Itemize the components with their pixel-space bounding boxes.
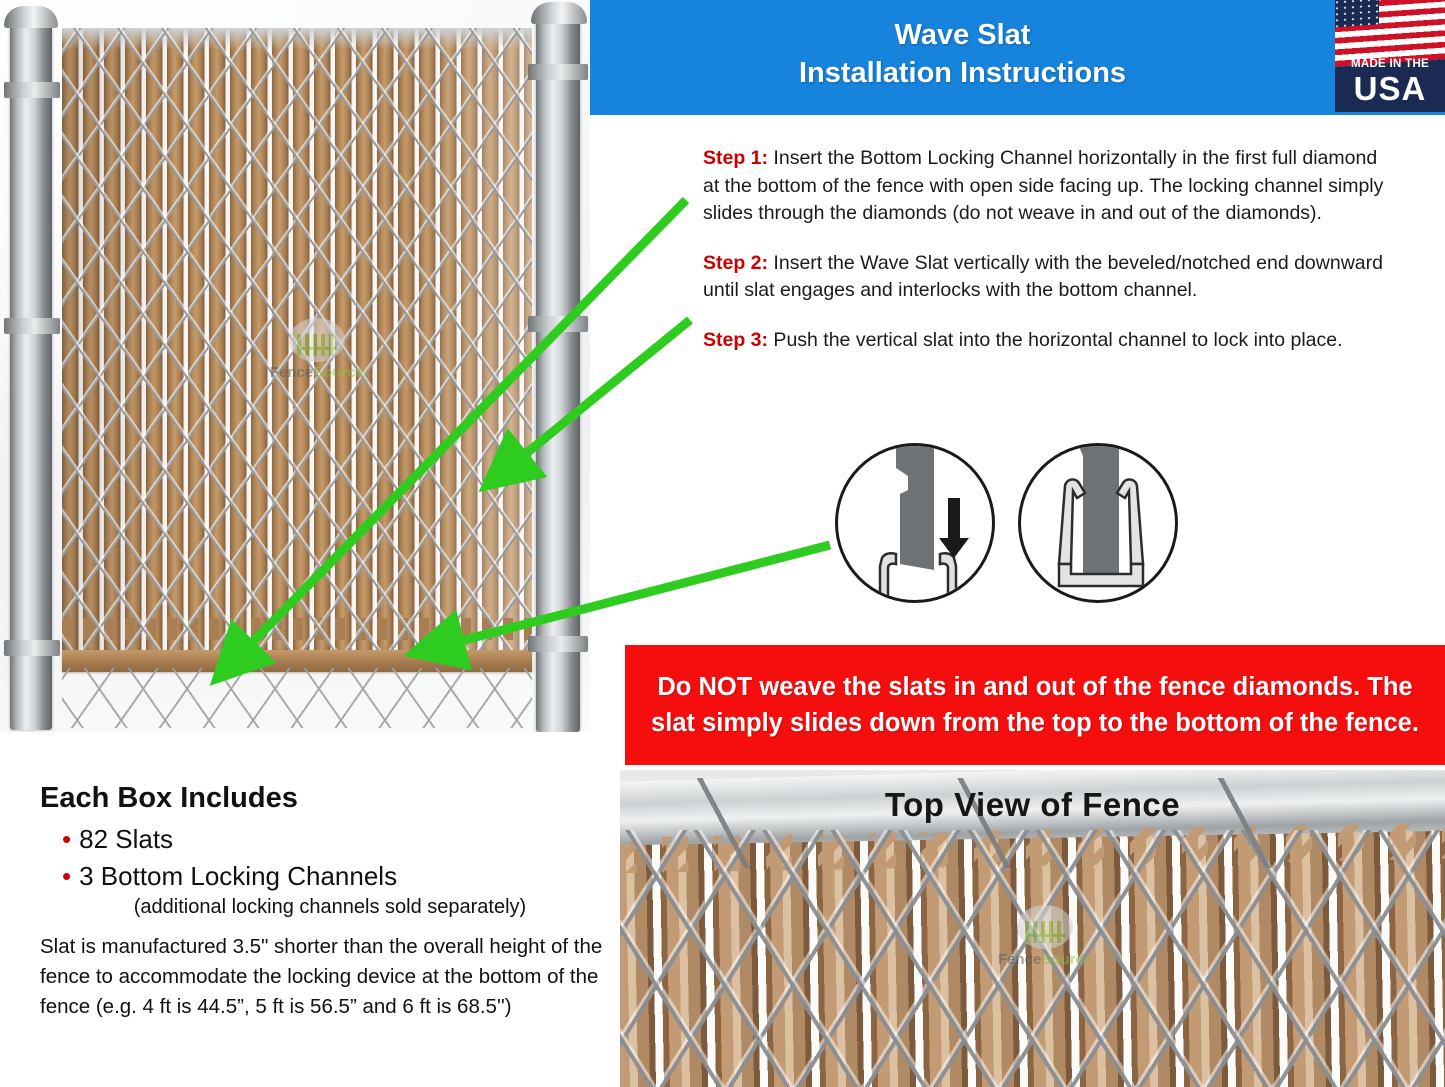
title-line-1: Wave Slat (590, 16, 1335, 54)
slat-inserting-into-channel-detail (835, 443, 995, 603)
step-1: Step 1: Insert the Bottom Locking Channe… (703, 145, 1393, 228)
do-not-weave-warning-banner: Do NOT weave the slats in and out of the… (625, 645, 1445, 765)
title-header-bar: Wave Slat Installation Instructions MADE… (590, 0, 1445, 115)
infographic-page: FenceSource Wave Slat Installation Instr… (0, 0, 1445, 1087)
post-band (4, 640, 60, 656)
warning-text: Do NOT weave the slats in and out of the… (625, 669, 1445, 741)
chain-link-diamond-mesh (62, 28, 532, 668)
fence-mesh-panel (62, 28, 532, 668)
page-title: Wave Slat Installation Instructions (590, 16, 1335, 92)
made-in-usa-badge: MADE IN THE USA (1335, 0, 1445, 112)
step-3: Step 3: Push the vertical slat into the … (703, 327, 1393, 355)
each-box-includes-section: Each Box Includes • 82 Slats • 3 Bottom … (40, 782, 600, 919)
badge-made-in-the-label: MADE IN THE (1335, 58, 1445, 70)
step-2-text: Insert the Wave Slat vertically with the… (703, 252, 1383, 302)
list-item: • 82 Slats (40, 821, 600, 858)
step-1-text: Insert the Bottom Locking Channel horizo… (703, 147, 1383, 224)
lower-open-mesh (62, 668, 532, 728)
post-band (528, 636, 588, 652)
list-item: • 3 Bottom Locking Channels (40, 858, 600, 895)
top-view-chain-link-mesh (620, 830, 1445, 1087)
step-2-label: Step 2: (703, 252, 768, 274)
insert-slat-diagram-icon (838, 446, 995, 603)
slat-locked-in-channel-detail (1018, 443, 1178, 603)
flag-stars-icon (1335, 0, 1379, 28)
box-includes-item-2: 3 Bottom Locking Channels (79, 858, 397, 895)
locked-slat-diagram-icon (1021, 446, 1178, 603)
title-line-2: Installation Instructions (590, 54, 1335, 92)
slat-locking-detail-diagrams (835, 443, 1180, 608)
post-band (528, 64, 588, 80)
step-1-label: Step 1: (703, 147, 768, 169)
bullet-icon: • (62, 858, 71, 895)
box-includes-note: (additional locking channels sold separa… (40, 896, 600, 919)
step-2: Step 2: Insert the Wave Slat vertically … (703, 250, 1393, 305)
post-band (4, 318, 60, 334)
post-band (4, 82, 60, 98)
post-cap-right (531, 2, 587, 24)
flag-canton (1335, 0, 1379, 28)
fence-installation-photo: FenceSource (0, 0, 590, 732)
box-includes-title: Each Box Includes (40, 782, 600, 815)
post-band (528, 316, 588, 332)
box-includes-item-1: 82 Slats (79, 821, 173, 858)
step-3-text: Push the vertical slat into the horizont… (768, 329, 1343, 351)
step-3-label: Step 3: (703, 329, 768, 351)
installation-steps: Step 1: Insert the Bottom Locking Channe… (703, 145, 1393, 376)
top-view-label: Top View of Fence (620, 786, 1445, 824)
bullet-icon: • (62, 821, 71, 858)
fence-post-left (10, 18, 52, 730)
post-cap-left (4, 6, 58, 28)
top-view-fence-photo: Top View of Fence FenceSource (620, 770, 1445, 1087)
slat-measurement-note: Slat is manufactured 3.5" shorter than t… (40, 932, 605, 1022)
badge-usa-label: USA (1335, 70, 1445, 108)
fence-post-right (536, 10, 580, 732)
